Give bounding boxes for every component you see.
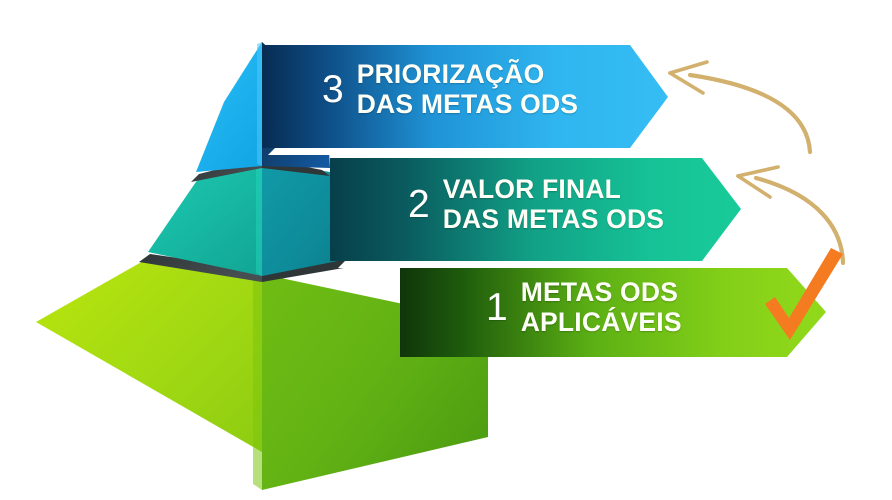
band-level-1[interactable] [400,268,826,357]
diagram-canvas: 3 PRIORIZAÇÃO DAS METAS ODS 2 VALOR FINA… [0,0,892,500]
band-separator-3 [268,148,640,155]
band-level-3[interactable] [262,45,668,148]
band-level-2[interactable] [330,158,741,261]
arrow-level2-to-level3 [670,62,810,152]
band-separator-2 [338,261,712,268]
arrow-level1-to-level3 [738,167,843,263]
pyramid-diagram-graphic [0,0,892,500]
